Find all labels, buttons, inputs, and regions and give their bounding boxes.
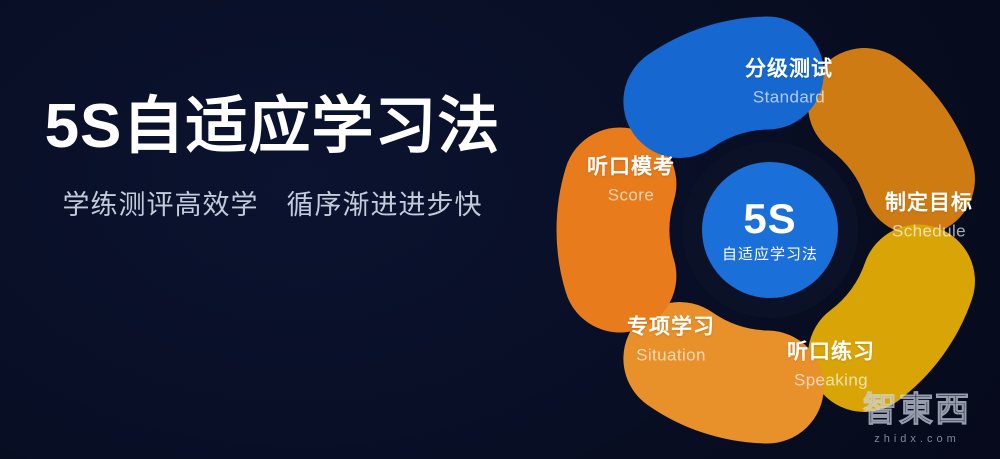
segment-label-cn: 专项学习 (627, 311, 715, 341)
segment-label-schedule[interactable]: 制定目标 Schedule (885, 187, 973, 242)
segment-label-en: Score (587, 186, 675, 206)
segment-label-speaking[interactable]: 听口练习 Speaking (787, 336, 875, 391)
hub-circle (702, 162, 838, 298)
segment-label-en: Situation (627, 346, 715, 366)
segment-label-score[interactable]: 听口模考 Score (587, 151, 675, 206)
donut-segment-standard[interactable] (864, 105, 918, 179)
hero-text-block: 5S自适应学习法 学练测评高效学 循序渐进进步快 (0, 92, 545, 222)
segment-label-en: Standard (745, 88, 833, 108)
segment-label-cn: 听口练习 (787, 336, 875, 366)
five-s-donut-diagram: 分级测试 Standard 制定目标 Schedule 听口练习 Speakin… (545, 0, 1000, 459)
segment-label-en: Speaking (787, 371, 875, 391)
page-title: 5S自适应学习法 (0, 92, 545, 161)
page-subtitle: 学练测评高效学 循序渐进进步快 (0, 189, 545, 221)
segment-label-cn: 制定目标 (885, 187, 973, 217)
segment-label-cn: 分级测试 (745, 53, 833, 83)
segment-label-cn: 听口模考 (587, 151, 675, 181)
segment-label-situation[interactable]: 专项学习 Situation (627, 311, 715, 366)
segment-label-standard[interactable]: 分级测试 Standard (745, 53, 833, 108)
segment-label-en: Schedule (885, 222, 973, 242)
slide-canvas: 5S自适应学习法 学练测评高效学 循序渐进进步快 分级测试 Standard 制… (0, 0, 1000, 459)
